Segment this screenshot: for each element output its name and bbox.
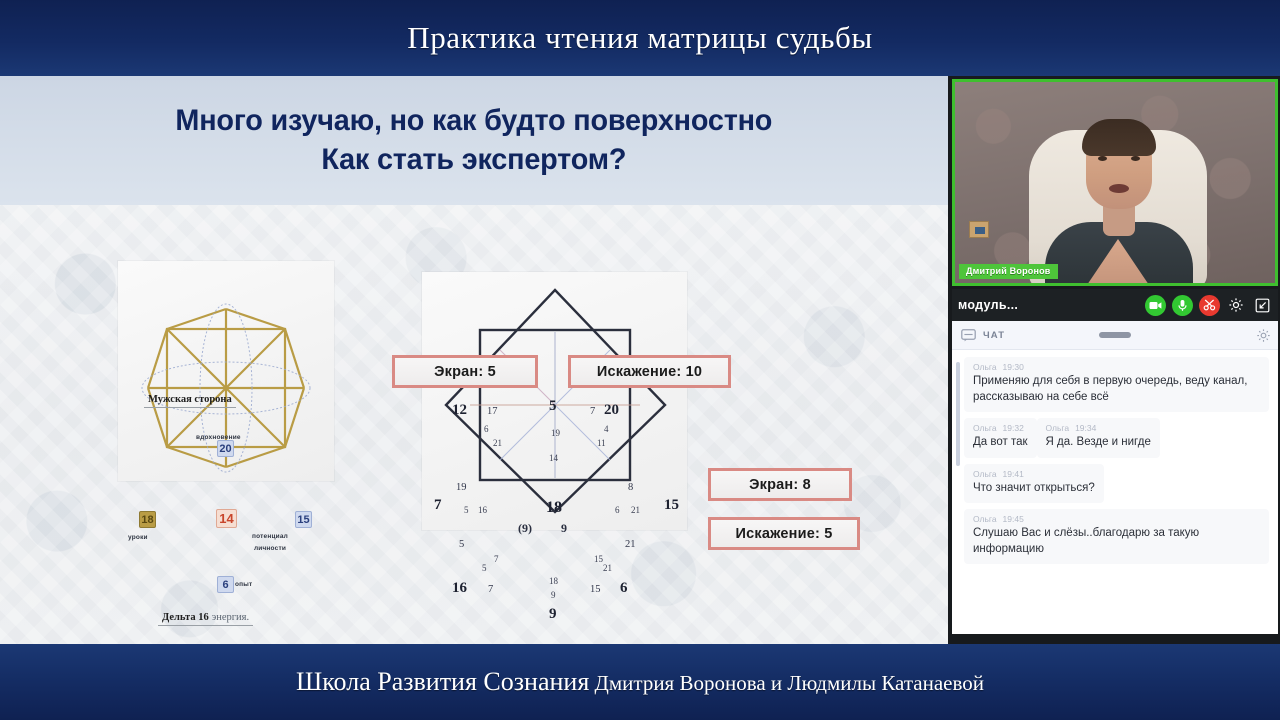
right-matrix-diamond-right: 21 xyxy=(631,505,640,515)
screenshare-off-icon xyxy=(1203,299,1216,311)
chat-message: Ольга19:45Слушаю Вас и слёзы..благодарю … xyxy=(964,509,1269,564)
chat-message-author: Ольга xyxy=(973,362,997,372)
right-matrix-diamond-left: 5 xyxy=(464,505,469,515)
question-banner: Много изучаю, но как будто поверхностно … xyxy=(0,76,948,205)
panel-drag-handle[interactable] xyxy=(1099,332,1131,338)
chat-message-text: Да вот так xyxy=(973,435,1028,451)
mouth-shape xyxy=(1109,184,1129,193)
chat-scrollbar-thumb[interactable] xyxy=(956,362,960,466)
right-matrix-square-mid-right: 6 xyxy=(615,505,620,515)
chat-message-author: Ольга xyxy=(1046,423,1070,433)
collapse-icon xyxy=(1255,298,1270,313)
footer-branding: Школа Развития Сознания Дмитрия Воронова… xyxy=(296,667,984,697)
camera-button[interactable] xyxy=(1145,295,1166,316)
chat-message-time: 19:45 xyxy=(1003,514,1024,524)
left-matrix-caption-right: потенциал личности xyxy=(252,531,288,556)
right-eye-shape xyxy=(1131,156,1140,161)
chat-message: Ольга19:34Я да. Везде и нигде xyxy=(1037,418,1160,458)
left-matrix-energy: энергия. xyxy=(212,612,249,623)
video-tile[interactable]: Дмитрий Воронов xyxy=(952,79,1278,286)
right-matrix-square-mid-left: 16 xyxy=(478,505,487,515)
right-matrix-edge-left-top: 19 xyxy=(456,482,467,493)
meeting-title: модуль... xyxy=(958,298,1018,312)
microphone-button[interactable] xyxy=(1172,295,1193,316)
left-matrix-caption-bottom: опыт xyxy=(235,581,252,588)
chat-message-meta: Ольга19:30 xyxy=(973,362,1260,372)
chat-message-time: 19:34 xyxy=(1075,423,1096,433)
right-matrix-diagonal-tl: 21 xyxy=(493,438,502,448)
right-matrix-edge-right-top: 8 xyxy=(628,482,633,493)
left-matrix-delta: Дельта 16 xyxy=(162,612,209,623)
top-title-bar: Практика чтения матрицы судьбы xyxy=(0,0,1280,76)
right-matrix-diagonal-bl: 7 xyxy=(494,554,499,564)
page-title: Практика чтения матрицы судьбы xyxy=(407,20,873,56)
chat-message-text: Я да. Везде и нигде xyxy=(1046,435,1151,451)
right-matrix-edge-left-bottom: 5 xyxy=(459,539,464,550)
chat-message-author: Ольга xyxy=(973,423,997,433)
chat-message: Ольга19:32Да вот так xyxy=(964,418,1037,458)
chat-message-time: 19:32 xyxy=(1003,423,1024,433)
right-matrix-square-corner-tr: 4 xyxy=(604,424,609,434)
footer-school-name: Школа Развития Сознания xyxy=(296,667,589,696)
meeting-control-bar: модуль... xyxy=(952,289,1278,321)
right-matrix-center-paren: (9) xyxy=(518,521,532,536)
right-matrix-apex-right: 15 xyxy=(664,497,679,514)
gear-icon xyxy=(1256,328,1271,343)
left-matrix-footer: Дельта 16энергия. xyxy=(158,611,253,626)
right-matrix-edge-bottom-left: 7 xyxy=(488,584,493,595)
left-matrix-node-left: 18 xyxy=(139,511,156,528)
left-matrix-node-right: 15 xyxy=(295,511,312,528)
chat-messages-container: Ольга19:30Применяю для себя в первую оче… xyxy=(964,357,1269,564)
chat-message-meta: Ольга19:32 xyxy=(973,423,1028,433)
right-matrix-edge-top-right: 7 xyxy=(590,406,595,417)
left-matrix-node-center: 14 xyxy=(216,509,237,528)
right-matrix-top-left: 12 xyxy=(452,402,467,419)
screenshare-button[interactable] xyxy=(1199,295,1220,316)
chat-settings-button[interactable] xyxy=(1256,328,1271,348)
meeting-control-icons xyxy=(1145,295,1272,316)
microphone-icon xyxy=(1177,299,1188,312)
right-matrix-square-corner-tl: 6 xyxy=(484,424,489,434)
chat-message: Ольга19:41Что значит открыться? xyxy=(964,464,1104,504)
right-matrix-diamond-top: 19 xyxy=(551,428,560,438)
footer-authors: Дмитрия Воронова и Людмилы Катанаевой xyxy=(589,671,984,695)
presentation-screen: Практика чтения матрицы судьбы Много изу… xyxy=(0,0,1280,720)
left-matrix-caption-left: уроки xyxy=(128,534,148,541)
footer-bar: Школа Развития Сознания Дмитрия Воронова… xyxy=(0,644,1280,720)
right-matrix-edge-right-bottom: 21 xyxy=(625,539,636,550)
left-matrix-title: Мужская сторона xyxy=(144,393,236,408)
chat-message-meta: Ольга19:34 xyxy=(1046,423,1151,433)
chat-message-text: Что значит открыться? xyxy=(973,481,1095,497)
right-matrix-diagonal-br: 15 xyxy=(594,554,603,564)
right-matrix-diamond-bottom: 9 xyxy=(551,590,556,600)
left-matrix-node-top: 20 xyxy=(217,440,234,457)
right-matrix-edge-top-left: 17 xyxy=(487,406,498,417)
right-matrix-bottom-left: 16 xyxy=(452,580,467,597)
right-matrix-apex-left: 7 xyxy=(434,497,442,514)
participant-name-badge: Дмитрий Воронов xyxy=(959,264,1058,279)
callout-screen-2: Экран: 8 xyxy=(708,468,852,501)
chat-message-list[interactable]: Ольга19:30Применяю для себя в первую оче… xyxy=(952,350,1278,634)
left-eye-shape xyxy=(1098,156,1107,161)
right-matrix-top-right: 20 xyxy=(604,402,619,419)
chat-message: Ольга19:30Применяю для себя в первую оче… xyxy=(964,357,1269,412)
callout-distortion-1: Искажение: 10 xyxy=(568,355,731,388)
right-matrix-center: 18 xyxy=(546,499,562,517)
right-matrix-center-nine: 9 xyxy=(561,521,567,536)
right-matrix-apex-top: 5 xyxy=(549,398,557,415)
chat-message-text: Слушаю Вас и слёзы..благодарю за такую и… xyxy=(973,526,1260,557)
settings-button[interactable] xyxy=(1226,295,1246,315)
chat-header[interactable]: ЧАТ xyxy=(952,321,1278,350)
shared-screen-area: Много изучаю, но как будто поверхностно … xyxy=(0,76,948,644)
right-matrix-edge-bottom-right: 15 xyxy=(590,584,601,595)
chat-scrollbar[interactable] xyxy=(954,356,958,634)
hair-shape xyxy=(1082,119,1156,156)
right-matrix-bottom-right: 6 xyxy=(620,580,628,597)
chat-message-text: Применяю для себя в первую очередь, веду… xyxy=(973,374,1260,405)
right-matrix-square-mid-bottom: 18 xyxy=(549,576,558,586)
callout-screen-1: Экран: 5 xyxy=(392,355,538,388)
chat-message-author: Ольга xyxy=(973,469,997,479)
left-matrix-caption-right-1: потенциал xyxy=(252,533,288,540)
chat-panel: ЧАТ Ольга19:30Применяю для себя в первую… xyxy=(952,321,1278,634)
right-matrix-apex-bottom: 9 xyxy=(549,606,557,623)
meeting-side-panel: Дмитрий Воронов модуль... xyxy=(948,76,1280,644)
chat-message-time: 19:41 xyxy=(1003,469,1024,479)
wall-socket-shape xyxy=(969,221,989,238)
right-matrix-diagonal-tr: 11 xyxy=(597,438,606,448)
camera-icon xyxy=(1149,300,1162,311)
question-line-2: Как стать экспертом? xyxy=(322,141,627,179)
chat-message-meta: Ольга19:41 xyxy=(973,469,1095,479)
chat-message-author: Ольга xyxy=(973,514,997,524)
chat-message-time: 19:30 xyxy=(1003,362,1024,372)
question-line-1: Много изучаю, но как будто поверхностно xyxy=(176,102,773,140)
chat-panel-label: ЧАТ xyxy=(983,330,1005,341)
left-matrix-node-bottom: 6 xyxy=(217,576,234,593)
right-matrix-square-mid-top: 14 xyxy=(549,453,558,463)
minimize-button[interactable] xyxy=(1252,295,1272,315)
left-matrix-caption-right-2: личности xyxy=(254,545,286,552)
right-matrix-square-corner-bl: 5 xyxy=(482,563,487,573)
callout-distortion-2: Искажение: 5 xyxy=(708,517,860,550)
gear-icon xyxy=(1228,297,1244,313)
right-matrix-square-corner-br: 21 xyxy=(603,563,612,573)
chat-bubble-icon xyxy=(961,329,976,342)
chat-message-meta: Ольга19:45 xyxy=(973,514,1260,524)
